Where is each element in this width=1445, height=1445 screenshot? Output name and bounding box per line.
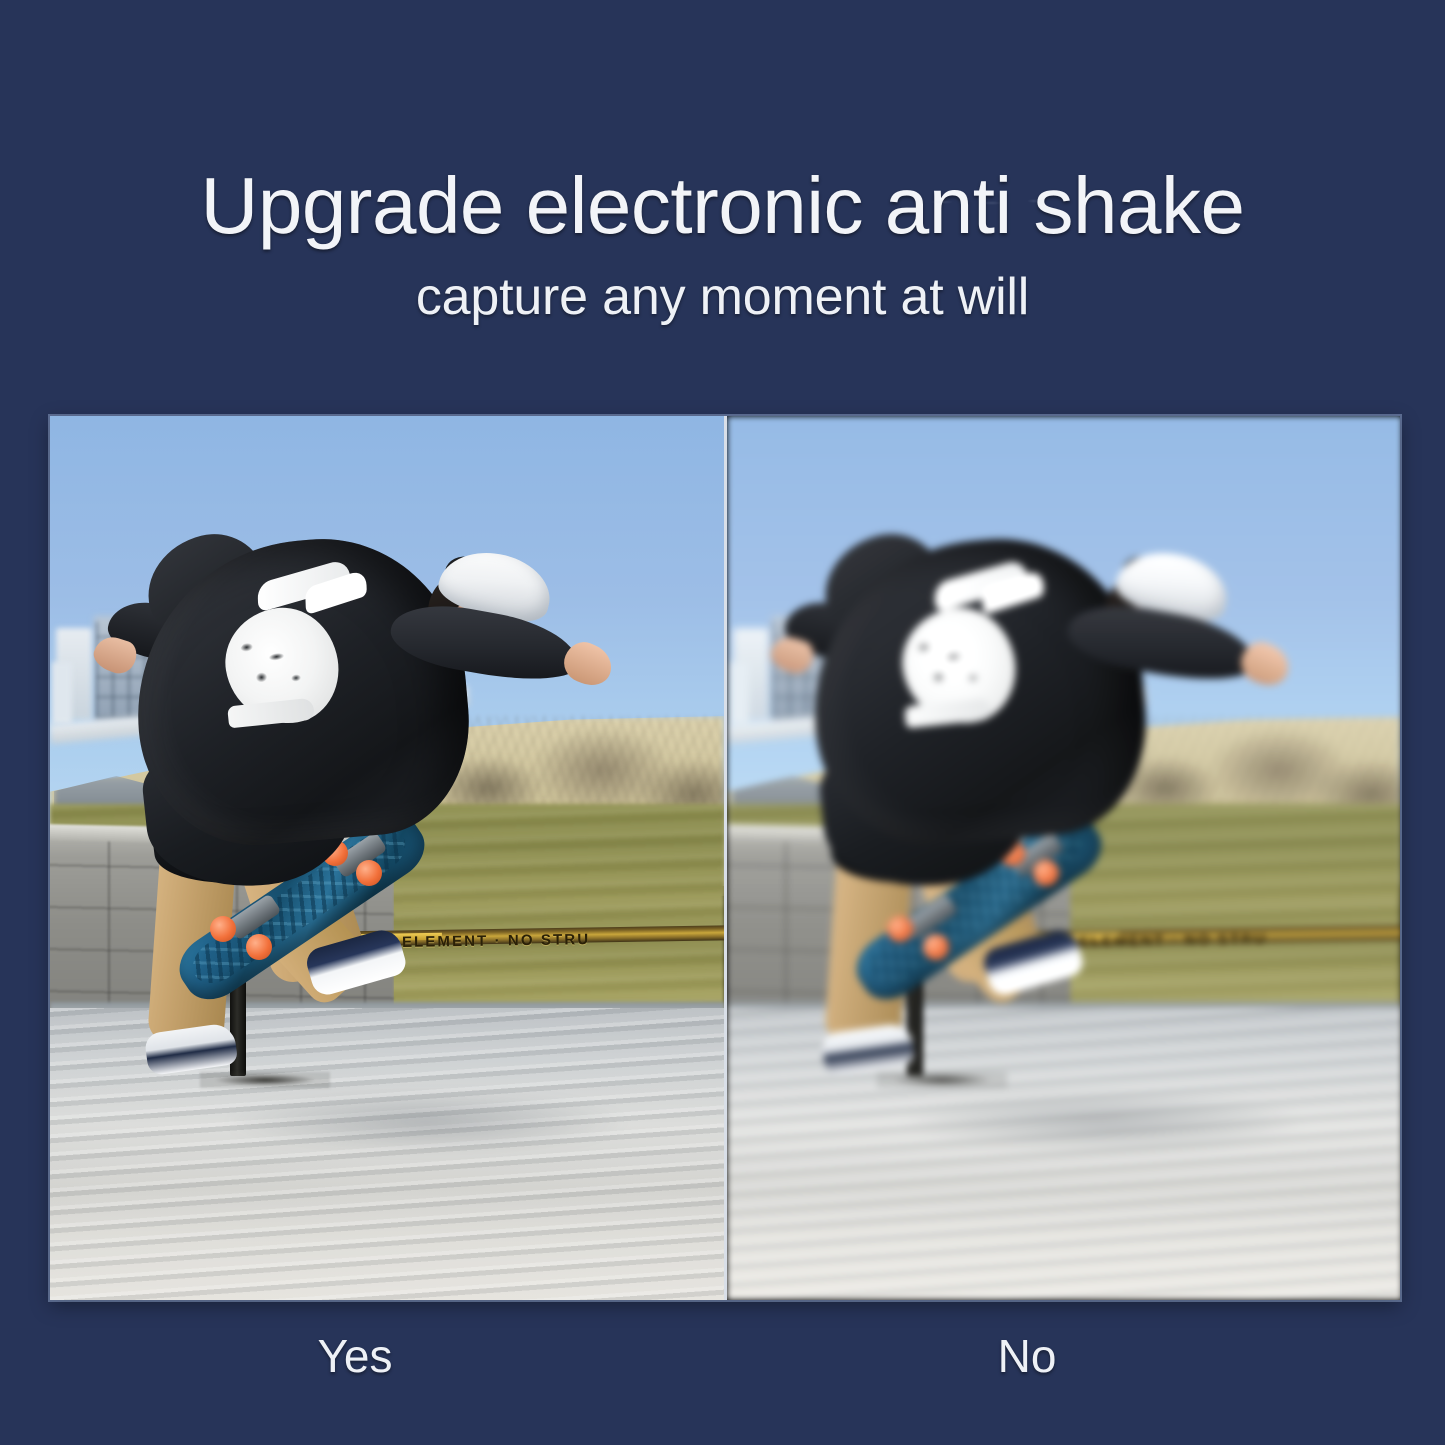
comparison-frame: ELEMENT · NO STRU [50,416,1400,1300]
skateboarder [727,416,1401,1300]
label-no: No [722,1333,1332,1379]
page-title: Upgrade electronic anti shake [0,166,1445,246]
skateboard-wheel [923,934,949,960]
skateboard-wheel [210,916,236,942]
skateboard-wheel [887,916,913,942]
page-subtitle: capture any moment at will [0,271,1445,323]
photo-pane-stabilized: ELEMENT · NO STRU [50,416,724,1300]
scene-sharp: ELEMENT · NO STRU [50,416,724,1300]
skateboard-wheel [246,934,272,960]
scene-blurred: ELEMENT · NO STRU [727,416,1401,1300]
skateboard-wheel [1033,860,1059,886]
skateboarder [50,416,724,1300]
label-yes: Yes [0,1333,710,1379]
skateboard-wheel [356,860,382,886]
photo-pane-unstabilized: ELEMENT · NO STRU [724,416,1401,1300]
promo-poster: Upgrade electronic anti shake capture an… [0,0,1445,1445]
